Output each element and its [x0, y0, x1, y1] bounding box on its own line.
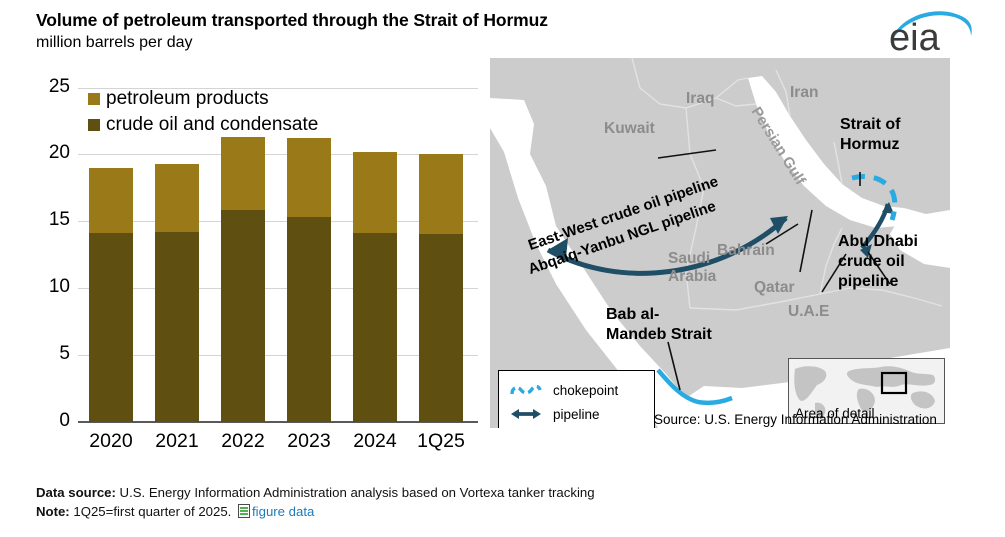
eia-logo: eia [883, 4, 987, 56]
footer-divider [36, 474, 976, 475]
map-legend-item-chokepoint[interactable]: chokepoint [509, 379, 618, 401]
bar-2020-petroleum-products [89, 168, 133, 233]
figure-data-link[interactable]: figure data [252, 504, 314, 519]
map-label-abu-dhabi-line2: crude oil [838, 253, 905, 271]
spreadsheet-icon [238, 504, 250, 524]
eia-wordmark: eia [889, 17, 941, 56]
map-legend-item-pipeline[interactable]: pipeline [509, 403, 600, 425]
bar-1Q25-crude-oil [419, 234, 463, 422]
footer-data-source-text: U.S. Energy Information Administration a… [116, 485, 595, 500]
x-tick-2023: 2023 [276, 430, 342, 453]
map-label-uae: U.A.E [788, 303, 829, 320]
legend-label-crude-oil: crude oil and condensate [106, 114, 318, 136]
map-label-bab-al-mandeb-line2: Mandeb Strait [606, 326, 712, 344]
x-tick-2020: 2020 [78, 430, 144, 453]
map-legend-label-chokepoint: chokepoint [553, 383, 618, 398]
bar-2023-crude-oil [287, 217, 331, 422]
map-label-kuwait: Kuwait [604, 120, 655, 137]
map: Iraq Iran Kuwait Bahrain Qatar U.A.E Sau… [490, 58, 950, 428]
map-label-iraq: Iraq [686, 90, 714, 107]
x-tick-1Q25: 1Q25 [408, 430, 474, 453]
bar-chart: 25 20 15 10 5 0 [0, 62, 490, 462]
y-tick-5: 5 [18, 343, 70, 365]
bar-2023[interactable] [287, 138, 331, 422]
bar-2020[interactable] [89, 168, 133, 422]
pipeline-double-arrow-icon [509, 406, 543, 422]
legend-item-petroleum-products[interactable]: petroleum products [88, 86, 318, 112]
map-label-iran: Iran [790, 84, 818, 101]
bar-2022-crude-oil [221, 210, 265, 422]
bar-2023-petroleum-products [287, 138, 331, 217]
map-source-text: Source: U.S. Energy Information Administ… [654, 412, 937, 427]
map-label-bahrain: Bahrain [717, 242, 775, 259]
footer-note-label: Note: [36, 504, 70, 519]
bar-2024[interactable] [353, 152, 397, 422]
legend-item-crude-oil[interactable]: crude oil and condensate [88, 112, 318, 138]
footer-note-text: 1Q25=first quarter of 2025. [70, 504, 235, 519]
page-title: Volume of petroleum transported through … [36, 10, 548, 31]
header: Volume of petroleum transported through … [0, 0, 1005, 62]
bar-2021[interactable] [155, 164, 199, 422]
y-tick-15: 15 [18, 209, 70, 231]
map-label-strait-of-hormuz-line2: Hormuz [840, 136, 900, 154]
y-tick-0: 0 [18, 410, 70, 432]
bar-2020-crude-oil [89, 233, 133, 422]
bar-2024-crude-oil [353, 233, 397, 422]
y-tick-20: 20 [18, 142, 70, 164]
map-label-strait-of-hormuz-line1: Strait of [840, 116, 900, 134]
chart-legend: petroleum products crude oil and condens… [88, 86, 318, 138]
x-tick-2021: 2021 [144, 430, 210, 453]
chart-subtitle: million barrels per day [36, 34, 193, 52]
footer: Data source: U.S. Energy Information Adm… [36, 484, 976, 523]
bar-1Q25-petroleum-products [419, 154, 463, 234]
map-label-bab-al-mandeb-line1: Bab al- [606, 306, 659, 324]
eia-logo-svg: eia [883, 4, 987, 56]
map-label-saudi-arabia-line2: Arabia [668, 268, 716, 285]
map-legend-label-pipeline: pipeline [553, 407, 600, 422]
map-label-abu-dhabi-line1: Abu Dhabi [838, 233, 918, 251]
bar-2021-petroleum-products [155, 164, 199, 232]
footer-data-source-label: Data source: [36, 485, 116, 500]
chokepoint-icon [509, 382, 543, 398]
footer-note-line: Note: 1Q25=first quarter of 2025. figure… [36, 503, 976, 524]
x-tick-2024: 2024 [342, 430, 408, 453]
bar-2024-petroleum-products [353, 152, 397, 233]
map-legend: chokepoint pipeline [498, 370, 655, 428]
bar-1Q25[interactable] [419, 154, 463, 422]
bar-2021-crude-oil [155, 232, 199, 422]
map-label-abu-dhabi-line3: pipeline [838, 273, 898, 291]
bar-2022[interactable] [221, 137, 265, 422]
x-tick-2022: 2022 [210, 430, 276, 453]
y-tick-25: 25 [18, 76, 70, 98]
y-tick-10: 10 [18, 276, 70, 298]
legend-label-petroleum-products: petroleum products [106, 88, 269, 110]
legend-swatch-petroleum-products [88, 93, 100, 105]
footer-data-source-line: Data source: U.S. Energy Information Adm… [36, 484, 976, 503]
map-label-saudi-arabia-line1: Saudi [668, 250, 710, 267]
y-axis-labels: 25 20 15 10 5 0 [0, 62, 70, 442]
legend-swatch-crude-oil [88, 119, 100, 131]
map-label-qatar: Qatar [754, 279, 795, 296]
bar-2022-petroleum-products [221, 137, 265, 210]
